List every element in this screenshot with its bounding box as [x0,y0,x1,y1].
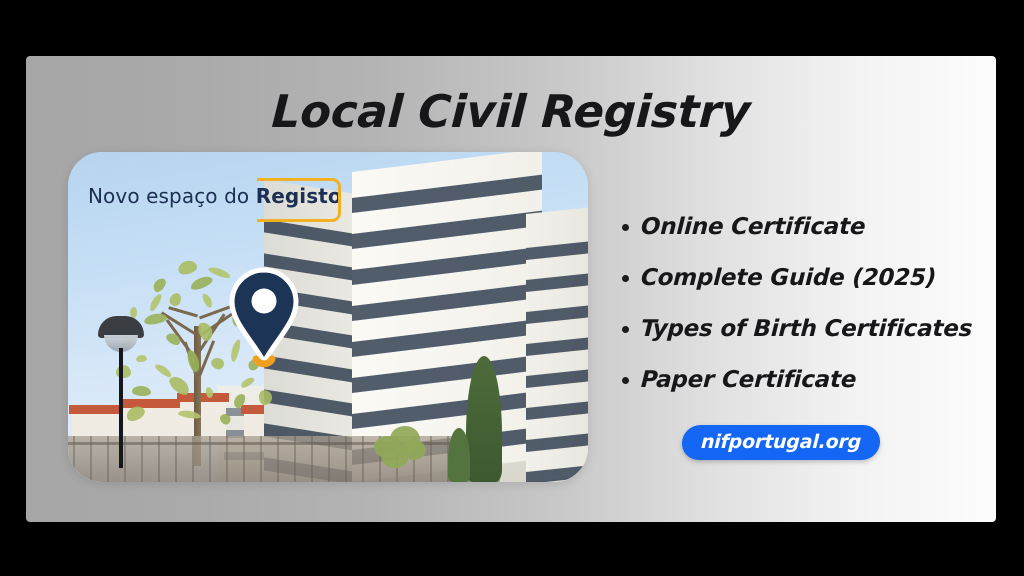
fence-bar [362,436,364,482]
overlay-text: Novo espaço do Registo [88,184,342,208]
small-tree [370,426,428,478]
tree-foliage [168,291,184,308]
tree-foliage [189,274,214,292]
feature-list: Online Certificate Complete Guide (2025)… [622,212,982,416]
fence-bar [158,436,160,482]
tree-foliage [148,293,164,313]
small-tree-foliage [382,450,408,468]
window-band [264,219,356,247]
fence-bar [294,436,296,482]
bullet-dot-icon [622,326,629,333]
window-band [352,391,542,429]
fence-bar [192,436,194,482]
bullet-dot-icon [622,275,629,282]
tree-foliage [151,276,168,294]
list-item[interactable]: Complete Guide (2025) [622,263,982,293]
content-panel: Local Civil Registry [26,56,996,522]
fence-bar [430,436,432,482]
fence-bar [277,436,279,482]
fence-bar [345,436,347,482]
window-band [526,432,588,452]
window-band [526,368,588,388]
site-badge[interactable]: nifportugal.org [681,425,881,460]
tree-foliage [232,392,247,410]
window-band [526,336,588,356]
screenshot-stage: Local Civil Registry [0,0,1024,576]
tree-foliage [239,375,255,389]
window-band [526,400,588,420]
fence-bar [243,436,245,482]
window-band [352,247,542,285]
fence-bar [73,436,75,482]
tree-foliage [218,412,233,427]
registo-overlay: Novo espaço do Registo [88,176,342,216]
window-band [352,283,542,321]
window-band [526,240,588,260]
tree-foliage [205,386,214,398]
photo-card: Novo espaço do Registo [68,152,588,482]
fence-bar [175,436,177,482]
fence-bar [260,436,262,482]
tree-branch [168,306,198,317]
fence-bar [311,436,313,482]
map-pin-icon [228,266,300,370]
lamp-pole [119,348,123,468]
bullet-dot-icon [622,224,629,231]
list-item-label: Types of Birth Certificates [640,314,973,344]
window-band [352,211,542,249]
tree-foliage [210,356,226,371]
street-lamp [98,316,144,468]
window-band [352,175,542,213]
tree-foliage [177,259,199,277]
fence-bar [209,436,211,482]
list-item-label: Online Certificate [640,212,866,242]
fence-bar [328,436,330,482]
building-wing [526,206,588,482]
window-band [526,272,588,292]
page-title: Local Civil Registry [26,86,996,138]
window-band [526,464,588,482]
list-item[interactable]: Online Certificate [622,212,982,242]
tree-foliage [164,331,182,347]
fence-bar [226,436,228,482]
overlay-text-normal: Novo espaço do [88,184,256,208]
list-item-label: Paper Certificate [640,365,857,395]
tree-foliage [258,389,273,405]
fence-bar [90,436,92,482]
list-item-label: Complete Guide (2025) [640,263,937,293]
list-item[interactable]: Types of Birth Certificates [622,314,982,344]
tree-foliage [201,292,214,309]
list-item[interactable]: Paper Certificate [622,365,982,395]
tree-foliage [154,362,173,379]
tree-foliage [143,312,167,326]
overlay-text-bold: Registo [256,184,342,208]
window-band [526,304,588,324]
window-band [352,319,542,357]
window-band [352,355,542,393]
bullet-dot-icon [622,377,629,384]
tree-foliage [167,373,193,398]
